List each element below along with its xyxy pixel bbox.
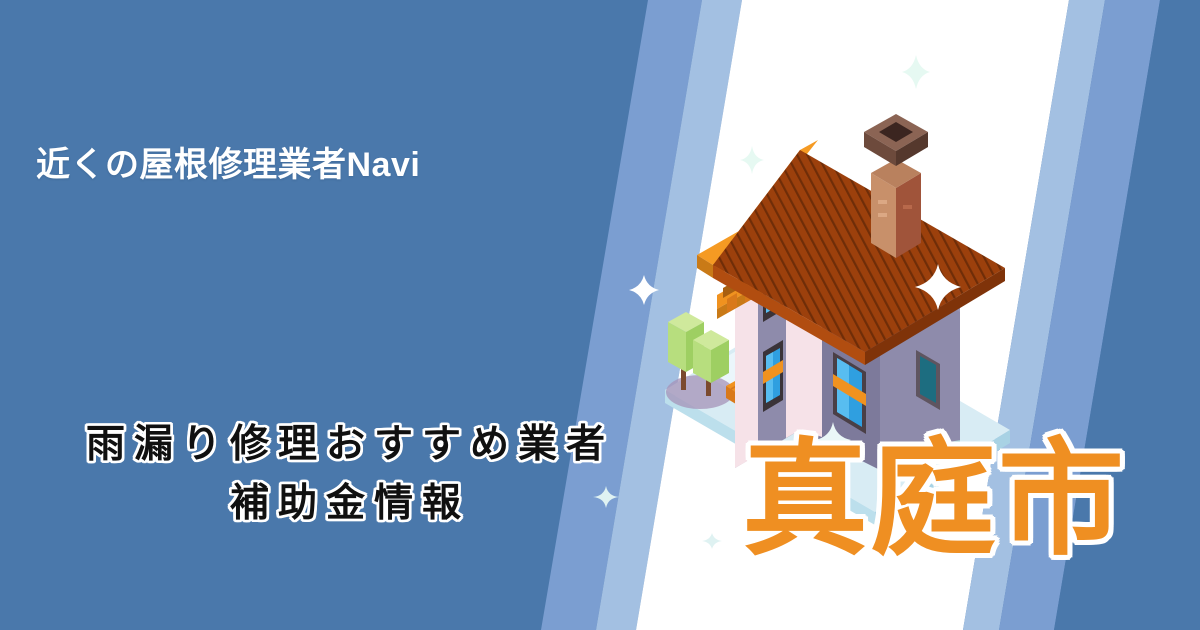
sparkle-icon xyxy=(702,533,722,549)
headline-block: 雨漏り修理おすすめ業者 補助金情報 xyxy=(0,415,700,534)
headline-line-2: 補助金情報 xyxy=(0,474,700,533)
sparkle-icon xyxy=(915,264,961,310)
city-name-text: 真庭市 xyxy=(742,437,1126,563)
sparkle-icon xyxy=(902,55,930,89)
sparkle-icon xyxy=(740,146,764,174)
banner-canvas: 近くの屋根修理業者Navi 雨漏り修理おすすめ業者 補助金情報 真庭市 xyxy=(0,0,1200,630)
headline-line-1: 雨漏り修理おすすめ業者 xyxy=(0,415,700,474)
site-logo-text: 近くの屋根修理業者Navi xyxy=(36,137,420,186)
sparkle-icon xyxy=(629,275,659,305)
